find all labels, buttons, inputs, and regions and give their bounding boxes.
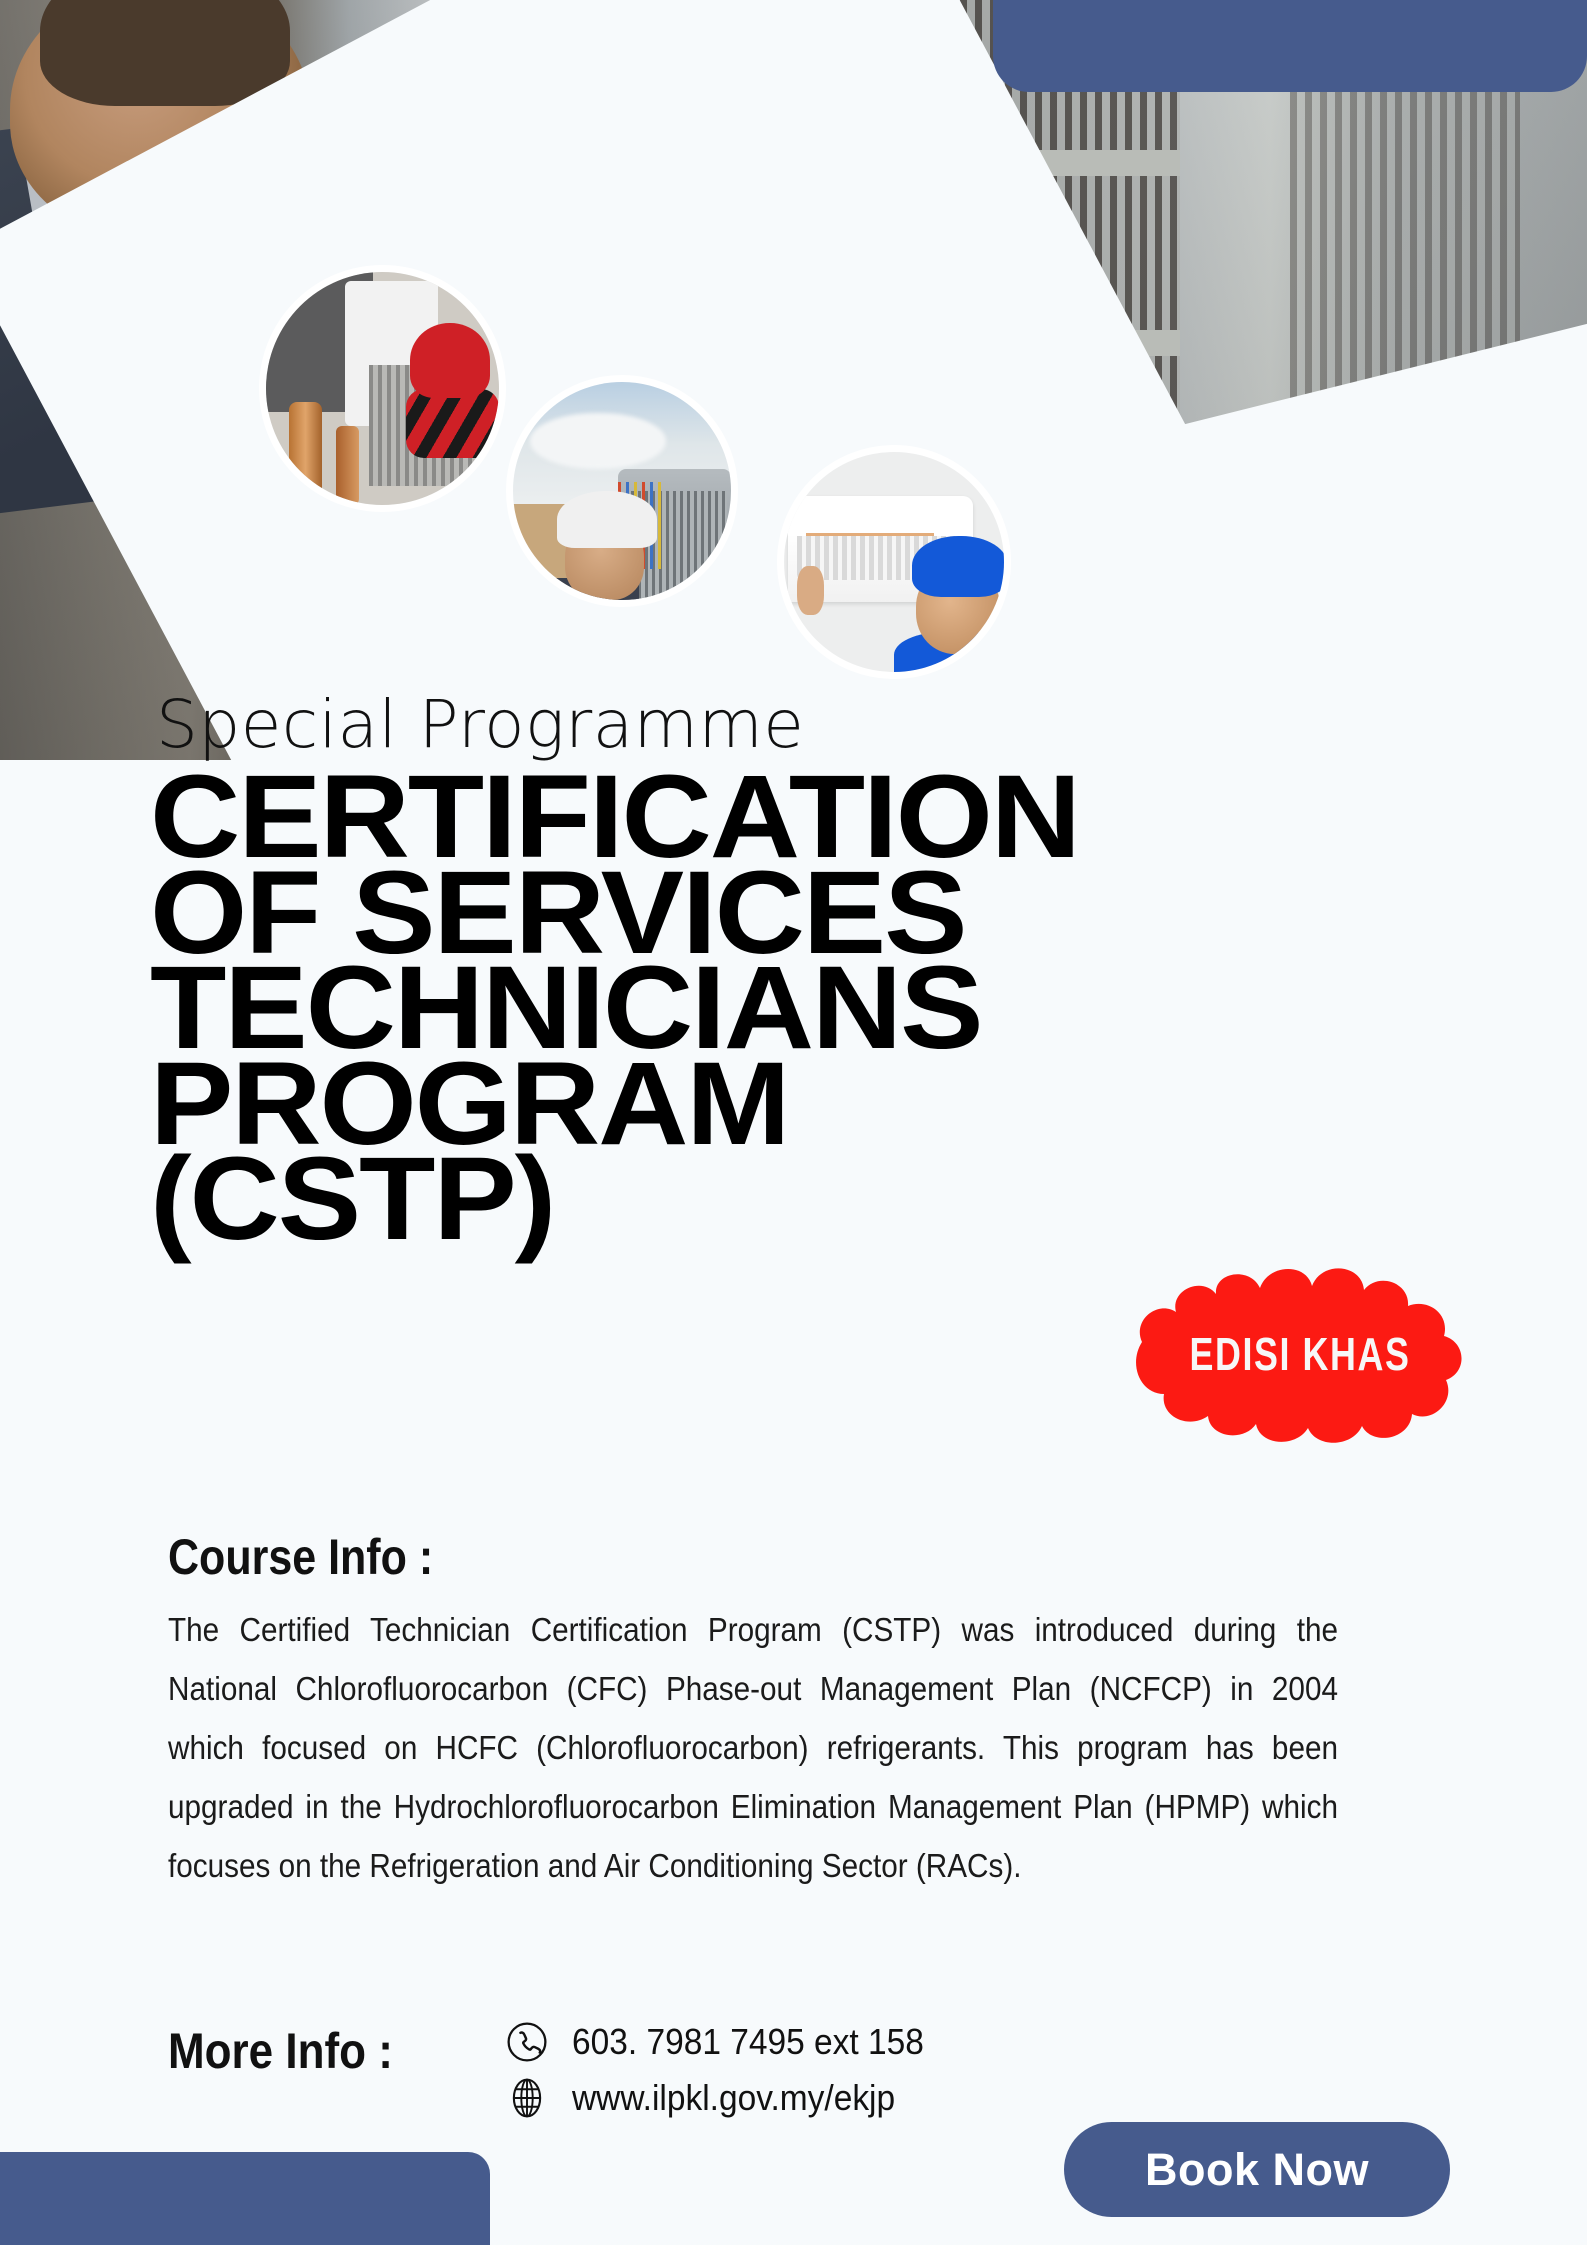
status-badge: EDISI KHAS xyxy=(1110,1250,1490,1450)
course-info-body: The Certified Technician Certification P… xyxy=(168,1600,1338,1895)
bubble-1-red-cap xyxy=(410,323,489,398)
bubble-photo-2 xyxy=(506,375,738,607)
contact-list: 603. 7981 7495 ext 158 www.ilpkl.gov.my/… xyxy=(500,2014,950,2126)
contact-row-website[interactable]: www.ilpkl.gov.my/ekjp xyxy=(500,2070,950,2126)
course-info-heading: Course Info : xyxy=(168,1528,433,1586)
contact-row-phone[interactable]: 603. 7981 7495 ext 158 xyxy=(500,2014,950,2070)
bottom-left-blue-shape xyxy=(0,2152,490,2245)
phone-number: 603. 7981 7495 ext 158 xyxy=(572,2021,924,2063)
bubble-1-copper-pipe-2 xyxy=(336,426,359,505)
globe-icon xyxy=(500,2072,554,2124)
bubble-3-hand xyxy=(797,566,823,614)
more-info-heading: More Info : xyxy=(168,2022,393,2080)
bubble-1-image xyxy=(266,272,499,505)
poster-canvas: Special Programme CERTIFICATION OF SERVI… xyxy=(0,0,1587,2245)
bubble-2-hard-hat xyxy=(557,491,657,548)
phone-icon xyxy=(500,2016,554,2068)
top-right-blue-shape xyxy=(993,0,1587,92)
bubble-photo-1 xyxy=(259,265,506,512)
website-url: www.ilpkl.gov.my/ekjp xyxy=(572,2077,895,2119)
book-now-button[interactable]: Book Now xyxy=(1064,2122,1450,2217)
page-title: CERTIFICATION OF SERVICES TECHNICIANS PR… xyxy=(150,770,1401,1248)
bubble-2-cloud xyxy=(530,413,665,470)
badge-label: EDISI KHAS xyxy=(1152,1254,1448,1454)
bubble-1-copper-pipe xyxy=(289,402,322,505)
technician-hair xyxy=(40,0,290,106)
bubble-1-arm xyxy=(406,389,499,459)
bubble-photo-3 xyxy=(777,445,1011,679)
bubble-3-blue-cap xyxy=(912,536,1009,598)
